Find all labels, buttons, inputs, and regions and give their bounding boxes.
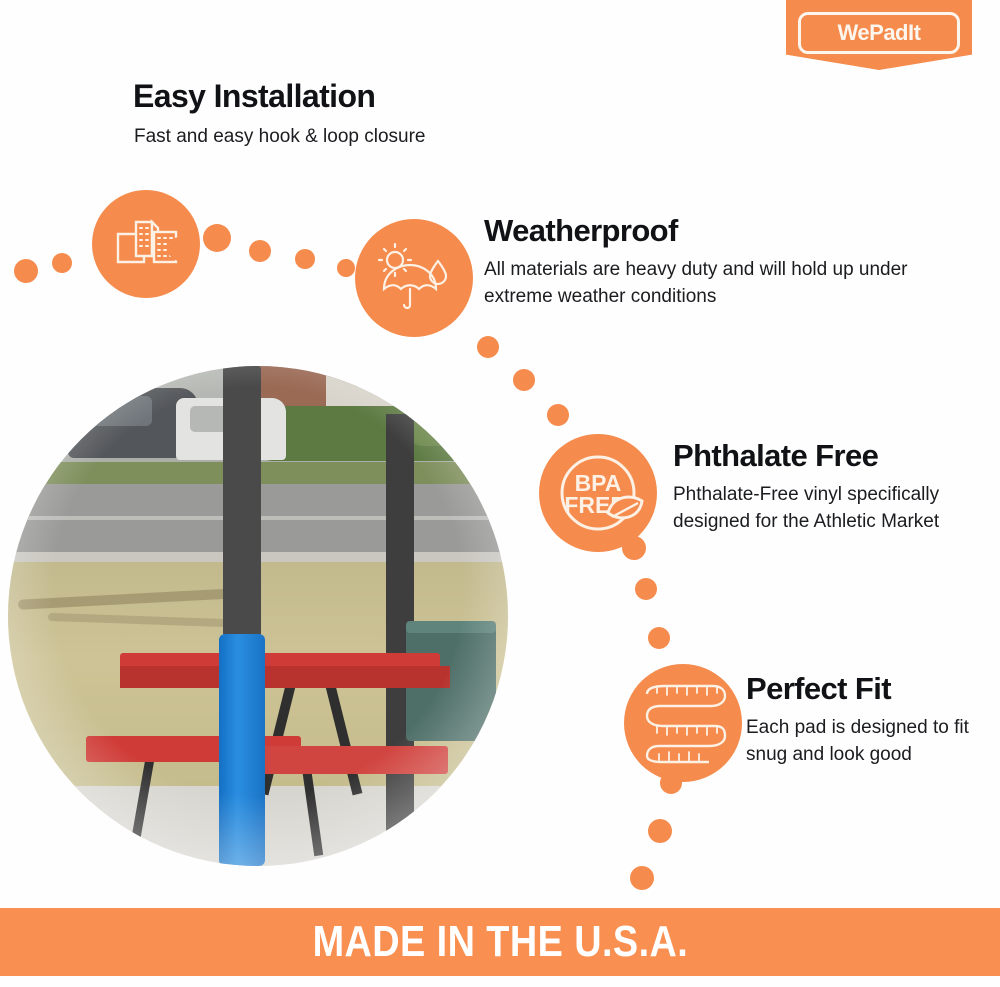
trail-dot bbox=[660, 772, 682, 794]
trail-dot bbox=[203, 224, 231, 252]
trail-dot bbox=[477, 336, 499, 358]
feature-description-easy-installation: Fast and easy hook & loop closure bbox=[134, 124, 554, 151]
logo-text-pad: Pad bbox=[869, 20, 908, 45]
feature-description-weatherproof: All materials are heavy duty and will ho… bbox=[484, 257, 914, 311]
feature-title-weatherproof: Weatherproof bbox=[484, 214, 678, 248]
trail-dot bbox=[337, 259, 355, 277]
made-in-usa-banner: MADE IN THE U.S.A. bbox=[0, 908, 1000, 976]
bpa-free-leaf-icon: BPA FREE bbox=[539, 434, 657, 552]
feature-title-easy-installation: Easy Installation bbox=[133, 79, 375, 114]
feature-title-perfect-fit: Perfect Fit bbox=[746, 672, 891, 706]
trail-dot bbox=[635, 578, 657, 600]
trail-dot bbox=[513, 369, 535, 391]
feature-description-perfect-fit: Each pad is designed to fit snug and loo… bbox=[746, 715, 981, 769]
made-in-usa-text: MADE IN THE U.S.A. bbox=[312, 917, 688, 967]
trail-dot bbox=[547, 404, 569, 426]
logo-text-it: It bbox=[908, 20, 920, 45]
sun-umbrella-raindrop-icon bbox=[355, 219, 473, 337]
logo-outline-box: WePadIt bbox=[798, 12, 960, 54]
measuring-tape-icon bbox=[624, 664, 742, 782]
feature-title-phthalate-free: Phthalate Free bbox=[673, 439, 878, 473]
trail-dot bbox=[295, 249, 315, 269]
trail-dot bbox=[648, 627, 670, 649]
trail-dot bbox=[648, 819, 672, 843]
logo-wordmark: WePadIt bbox=[838, 22, 921, 44]
logo-text-we: We bbox=[838, 20, 870, 45]
trail-dot bbox=[52, 253, 72, 273]
trail-dot bbox=[622, 536, 646, 560]
trail-dot bbox=[630, 866, 654, 890]
trail-dot bbox=[14, 259, 38, 283]
feature-description-phthalate-free: Phthalate-Free vinyl specifically design… bbox=[673, 482, 943, 536]
product-photo bbox=[8, 366, 508, 866]
brand-logo-banner: WePadIt bbox=[786, 0, 972, 70]
trail-dot bbox=[168, 237, 192, 261]
product-infographic: WePadIt Easy Installation Fast and easy … bbox=[0, 0, 1000, 987]
trail-dot bbox=[249, 240, 271, 262]
